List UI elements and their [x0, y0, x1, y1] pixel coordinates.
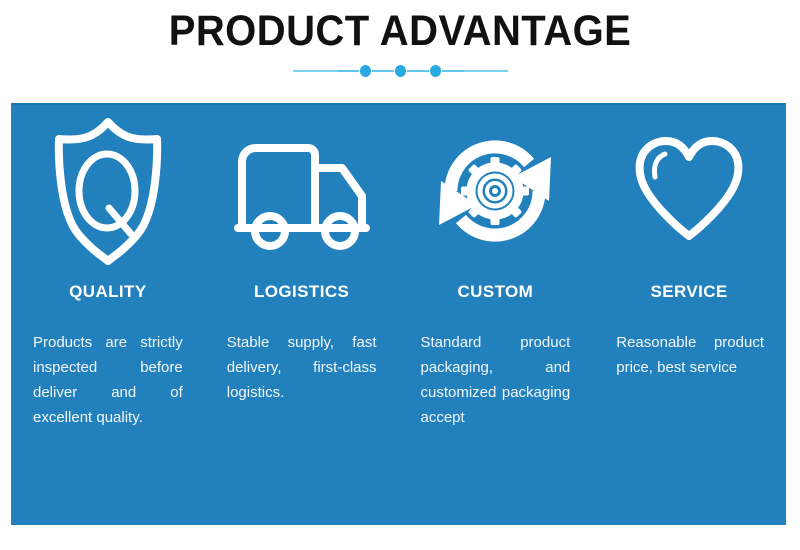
divider-dot-1: [360, 65, 371, 77]
gear-refresh-icon: [421, 103, 571, 278]
divider-line-left: [293, 70, 337, 72]
shield-q-icon: [33, 103, 183, 278]
page-header: PRODUCT ADVANTAGE: [0, 0, 800, 103]
advantage-column-custom: CUSTOM Standard product packaging, and c…: [399, 103, 593, 525]
divider-line-inner-1: [337, 70, 359, 72]
divider-line-right: [464, 70, 508, 72]
advantage-column-service: SERVICE Reasonable product price, best s…: [592, 103, 786, 525]
column-description: Reasonable product price, best service: [616, 330, 764, 380]
column-heading: CUSTOM: [421, 282, 571, 302]
divider-line-inner-4: [442, 70, 464, 72]
column-description: Standard product packaging, and customiz…: [421, 330, 571, 430]
advantage-panel: QUALITY Products are strictly inspected …: [11, 103, 786, 525]
divider-line-inner-3: [407, 70, 429, 72]
divider-line-inner-2: [372, 70, 394, 72]
advantage-columns: QUALITY Products are strictly inspected …: [11, 103, 786, 525]
heart-icon: [614, 103, 764, 278]
divider-dot-2: [395, 65, 406, 77]
advantage-column-logistics: LOGISTICS Stable supply, fast delivery, …: [205, 103, 399, 525]
column-heading: SERVICE: [614, 282, 764, 302]
divider-dot-3: [430, 65, 441, 77]
page-title: PRODUCT ADVANTAGE: [28, 6, 772, 56]
column-heading: QUALITY: [33, 282, 183, 302]
column-description: Products are strictly inspected before d…: [33, 330, 183, 430]
decorative-divider: [0, 60, 800, 82]
column-description: Stable supply, fast delivery, first-clas…: [227, 330, 377, 405]
delivery-truck-icon: [227, 103, 377, 278]
column-heading: LOGISTICS: [227, 282, 377, 302]
advantage-column-quality: QUALITY Products are strictly inspected …: [11, 103, 205, 525]
